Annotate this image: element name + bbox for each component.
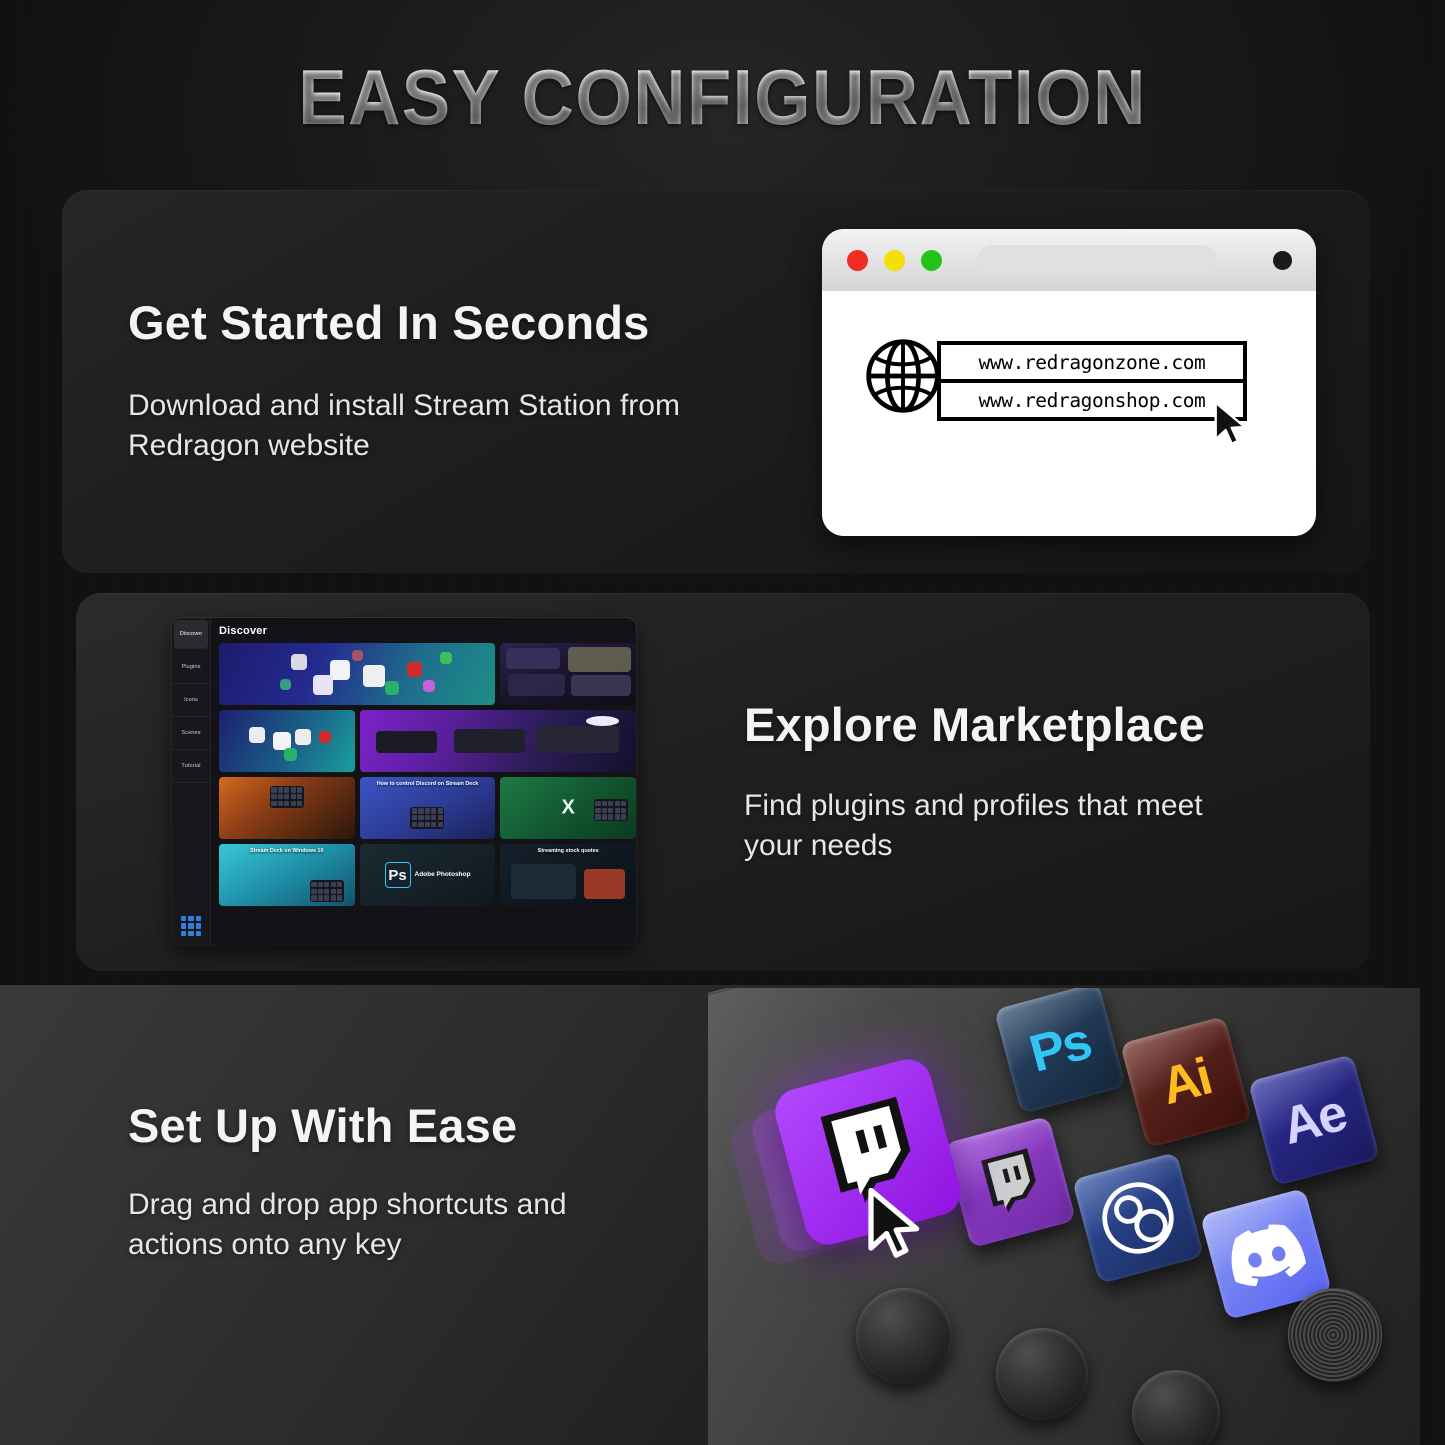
grid-icon[interactable] xyxy=(181,916,201,936)
section-body-set-up: Drag and drop app shortcuts and actions … xyxy=(128,1185,648,1264)
section-heading-explore-marketplace: Explore Marketplace xyxy=(744,697,1205,752)
app-content-discover: Discover xyxy=(211,618,636,945)
stream-deck-photo: Ps Ai Ae xyxy=(708,988,1420,1445)
twitch-icon xyxy=(975,1145,1045,1219)
photoshop-icon: Ps xyxy=(385,862,411,888)
section-heading-get-started: Get Started In Seconds xyxy=(128,295,650,350)
discord-icon xyxy=(1223,1217,1309,1291)
thumbnail-article-dark[interactable] xyxy=(500,643,636,705)
after-effects-icon: Ae xyxy=(1276,1083,1352,1157)
browser-window-mockup: www.redragonzone.com www.redragonshop.co… xyxy=(822,229,1316,536)
section-body-get-started: Download and install Stream Station from… xyxy=(128,386,768,465)
stream-station-app-screenshot: Discover Plugins Icons Scenes Tutorial D… xyxy=(172,618,636,945)
thumbnail-plugin-tiles-teal[interactable] xyxy=(219,710,355,772)
thumbnail-desk-setup[interactable] xyxy=(360,710,636,772)
traffic-light-minimize-icon[interactable] xyxy=(884,250,905,271)
thumbnail-excel-green[interactable]: X xyxy=(500,777,636,839)
deck-knob-4[interactable] xyxy=(1288,1288,1382,1382)
thumbnail-stock-quotes[interactable]: Streaming stock quotes xyxy=(500,844,636,906)
illustrator-icon: Ai xyxy=(1155,1047,1217,1117)
website-link-redragonzone[interactable]: www.redragonzone.com xyxy=(937,341,1247,383)
sidebar-item-tutorial[interactable]: Tutorial xyxy=(172,750,210,783)
page-title: EASY CONFIGURATION xyxy=(51,52,1395,143)
section-heading-set-up: Set Up With Ease xyxy=(128,1098,517,1153)
globe-icon xyxy=(864,337,942,415)
thumbnail-caption: How to control Discord on Stream Deck xyxy=(360,782,496,788)
browser-content: www.redragonzone.com www.redragonshop.co… xyxy=(822,291,1316,536)
thumbnail-caption: Stream Deck on Windows 10 xyxy=(219,849,355,855)
thumbnail-discord-article[interactable]: How to control Discord on Stream Deck xyxy=(360,777,496,839)
thumbnail-game-scene[interactable] xyxy=(219,777,355,839)
photoshop-icon: Ps xyxy=(1023,1011,1096,1084)
app-sidebar: Discover Plugins Icons Scenes Tutorial xyxy=(172,618,211,945)
thumbnail-grid: How to control Discord on Stream Deck X … xyxy=(219,643,636,906)
browser-address-bar[interactable] xyxy=(977,245,1217,276)
website-link-redragonshop[interactable]: www.redragonshop.com xyxy=(937,379,1247,421)
sidebar-item-discover[interactable]: Discover xyxy=(174,620,208,649)
traffic-light-maximize-icon[interactable] xyxy=(921,250,942,271)
app-page-title: Discover xyxy=(219,625,636,637)
traffic-light-close-icon[interactable] xyxy=(847,250,868,271)
thumbnail-windows-teal[interactable]: Stream Deck on Windows 10 xyxy=(219,844,355,906)
deck-knob-1[interactable] xyxy=(856,1288,952,1384)
browser-titlebar xyxy=(822,229,1316,291)
obs-icon xyxy=(1091,1171,1184,1264)
section-body-explore-marketplace: Find plugins and profiles that meet your… xyxy=(744,786,1264,865)
sidebar-item-scenes[interactable]: Scenes xyxy=(172,717,210,750)
thumbnail-caption: Adobe Photoshop xyxy=(415,871,471,878)
thumbnail-plugin-tiles-hero[interactable] xyxy=(219,643,495,705)
thumbnail-photoshop[interactable]: Ps Adobe Photoshop xyxy=(360,844,496,906)
sidebar-item-icons[interactable]: Icons xyxy=(172,684,210,717)
browser-menu-icon[interactable] xyxy=(1273,251,1292,270)
cursor-arrow-icon xyxy=(1212,401,1250,447)
sidebar-item-plugins[interactable]: Plugins xyxy=(172,651,210,684)
deck-knob-2[interactable] xyxy=(996,1328,1088,1420)
promo-graphic: EASY CONFIGURATION Get Started In Second… xyxy=(0,0,1445,1445)
cursor-arrow-icon xyxy=(866,1188,924,1260)
